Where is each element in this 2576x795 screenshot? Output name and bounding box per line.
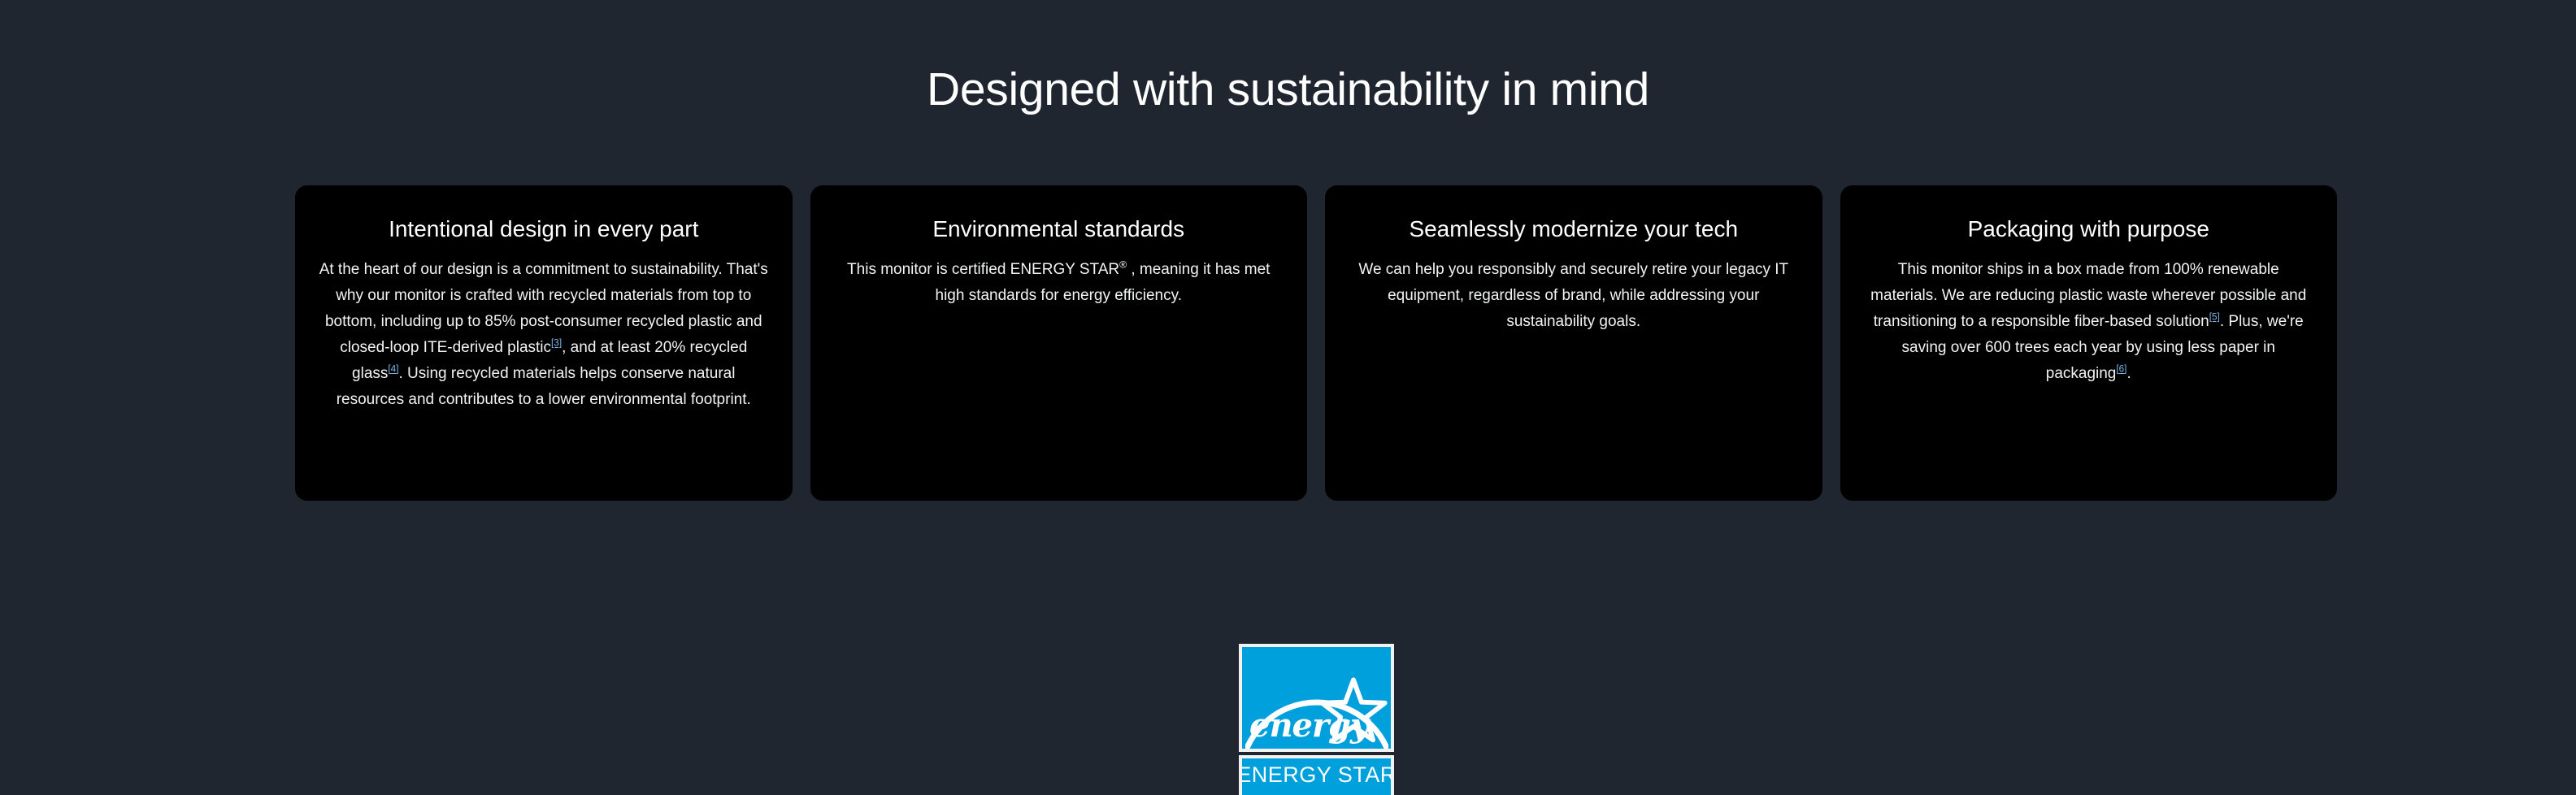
page-title: Designed with sustainability in mind — [0, 63, 2576, 117]
footnote-link-4[interactable]: [4] — [388, 364, 398, 375]
energy-star-star-icon — [1319, 677, 1388, 745]
energy-star-logo-lower-panel: ENERGY STAR — [1239, 755, 1394, 795]
card-environmental-standards: Environmental standards This monitor is … — [810, 185, 1308, 501]
energy-star-logo: energy ENERGY STAR — [1239, 644, 1394, 795]
card-body: We can help you responsibly and securely… — [1348, 257, 1800, 335]
card-body-text: We can help you responsibly and securely… — [1358, 261, 1788, 330]
card-title: Seamlessly modernize your tech — [1409, 215, 1738, 244]
card-body-text: . — [2126, 365, 2131, 382]
footnote-link-6[interactable]: [6] — [2116, 364, 2126, 375]
footnote-link-5[interactable]: [5] — [2209, 312, 2220, 323]
card-body: At the heart of our design is a commitme… — [318, 257, 770, 412]
card-intentional-design: Intentional design in every part At the … — [295, 185, 793, 501]
card-title: Intentional design in every part — [389, 215, 698, 244]
card-body: This monitor ships in a box made from 10… — [1863, 257, 2315, 387]
sustainability-section: Designed with sustainability in mind Int… — [0, 0, 2576, 795]
card-title: Environmental standards — [932, 215, 1184, 244]
card-body-text: . Using recycled materials helps conserv… — [337, 365, 751, 408]
energy-star-logo-upper-panel: energy — [1239, 644, 1394, 752]
card-body: This monitor is certified ENERGY STAR® ,… — [833, 257, 1285, 309]
sustainability-card-grid: Intentional design in every part At the … — [295, 185, 2337, 501]
card-modernize-tech: Seamlessly modernize your tech We can he… — [1325, 185, 1822, 501]
card-body-text: This monitor is certified ENERGY STAR — [847, 261, 1119, 278]
card-packaging-with-purpose: Packaging with purpose This monitor ship… — [1840, 185, 2338, 501]
registered-trademark-icon: ® — [1119, 259, 1127, 271]
footnote-link-3[interactable]: [3] — [551, 338, 562, 349]
energy-star-wordmark: ENERGY STAR — [1239, 758, 1394, 786]
card-title: Packaging with purpose — [1968, 215, 2209, 244]
